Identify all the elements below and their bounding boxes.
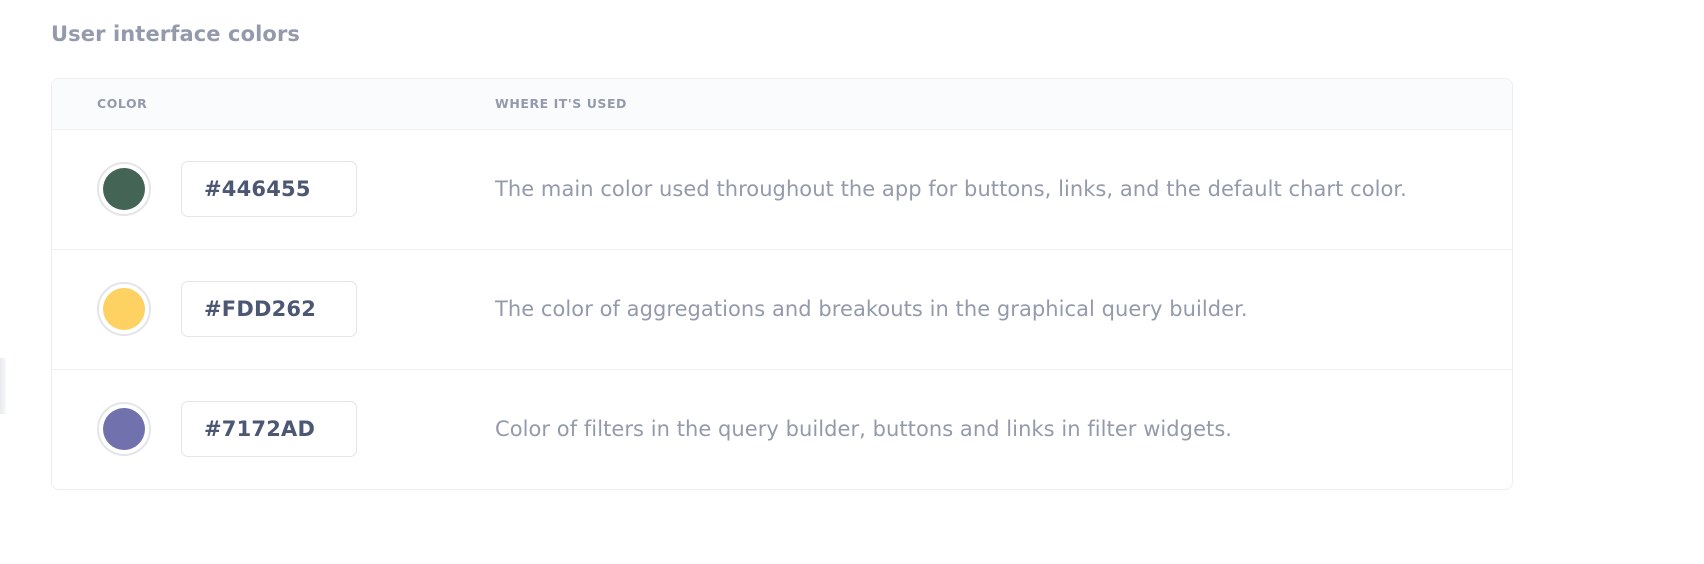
color-cell: #FDD262 xyxy=(52,249,495,369)
colors-card: COLOR WHERE IT'S USED #446455 xyxy=(51,78,1513,490)
hex-color-input[interactable]: #FDD262 xyxy=(181,281,357,337)
color-swatch-button[interactable] xyxy=(97,282,151,336)
ui-colors-page: User interface colors COLOR WHERE IT'S U… xyxy=(0,0,1704,564)
color-description: The color of aggregations and breakouts … xyxy=(495,295,1512,323)
color-swatch-button[interactable] xyxy=(97,162,151,216)
left-edge-artifact xyxy=(0,358,7,414)
table-row: #FDD262 The color of aggregations and br… xyxy=(52,249,1512,369)
table-body: #446455 The main color used throughout t… xyxy=(52,129,1512,489)
hex-color-input[interactable]: #446455 xyxy=(181,161,357,217)
description-cell: The color of aggregations and breakouts … xyxy=(495,249,1512,369)
color-swatch-dot xyxy=(103,168,145,210)
column-header-where-used: WHERE IT'S USED xyxy=(495,79,1512,129)
color-cell-inner: #7172AD xyxy=(52,401,495,457)
color-cell: #7172AD xyxy=(52,369,495,489)
colors-table: COLOR WHERE IT'S USED #446455 xyxy=(52,79,1512,489)
color-description: The main color used throughout the app f… xyxy=(495,175,1512,203)
table-row: #7172AD Color of filters in the query bu… xyxy=(52,369,1512,489)
color-description: Color of filters in the query builder, b… xyxy=(495,415,1512,443)
column-header-color: COLOR xyxy=(52,79,495,129)
table-head: COLOR WHERE IT'S USED xyxy=(52,79,1512,129)
color-cell: #446455 xyxy=(52,129,495,249)
color-swatch-dot xyxy=(103,288,145,330)
page-title: User interface colors xyxy=(51,20,300,48)
table-header-row: COLOR WHERE IT'S USED xyxy=(52,79,1512,129)
color-swatch-dot xyxy=(103,408,145,450)
color-swatch-button[interactable] xyxy=(97,402,151,456)
description-cell: Color of filters in the query builder, b… xyxy=(495,369,1512,489)
hex-color-input[interactable]: #7172AD xyxy=(181,401,357,457)
color-cell-inner: #FDD262 xyxy=(52,281,495,337)
table-row: #446455 The main color used throughout t… xyxy=(52,129,1512,249)
description-cell: The main color used throughout the app f… xyxy=(495,129,1512,249)
color-cell-inner: #446455 xyxy=(52,161,495,217)
